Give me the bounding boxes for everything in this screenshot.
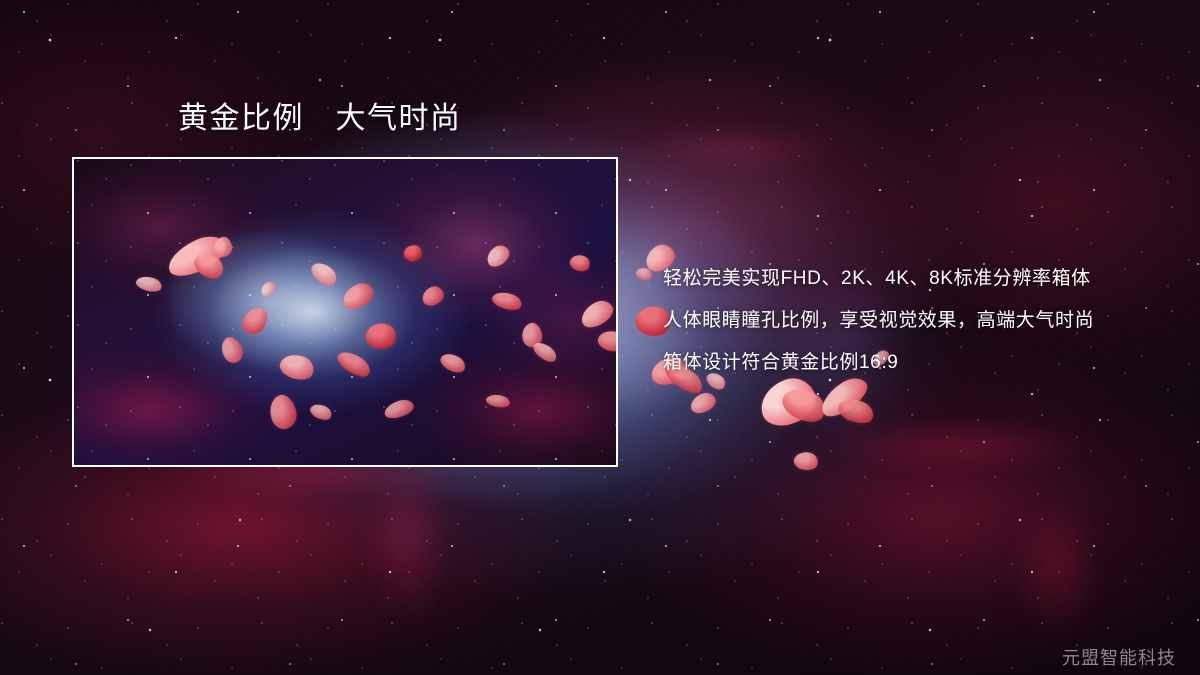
body-line-1: 轻松完美实现FHD、2K、4K、8K标准分辨率箱体	[663, 258, 1183, 300]
floating-petal	[835, 394, 877, 428]
body-text-block: 轻松完美实现FHD、2K、4K、8K标准分辨率箱体 人体眼睛瞳孔比例，享受视觉效…	[663, 258, 1183, 384]
framed-photo	[72, 157, 618, 467]
floating-petal	[778, 381, 831, 428]
floating-petal	[634, 265, 653, 282]
floating-petal	[792, 450, 819, 473]
page-title: 黄金比例 大气时尚	[178, 102, 462, 136]
slide-canvas: 黄金比例 大气时尚 轻松完美实现FHD、2K、4K、8K标准分辨率箱体 人体眼睛…	[0, 0, 1200, 675]
body-line-3: 箱体设计符合黄金比例16:9	[663, 342, 1183, 384]
photo-starfield	[74, 159, 616, 465]
floating-petal	[688, 390, 719, 416]
photo-content	[74, 159, 616, 465]
watermark: 元盟智能科技	[1062, 646, 1176, 670]
body-line-2: 人体眼睛瞳孔比例，享受视觉效果，高端大气时尚	[663, 300, 1183, 342]
